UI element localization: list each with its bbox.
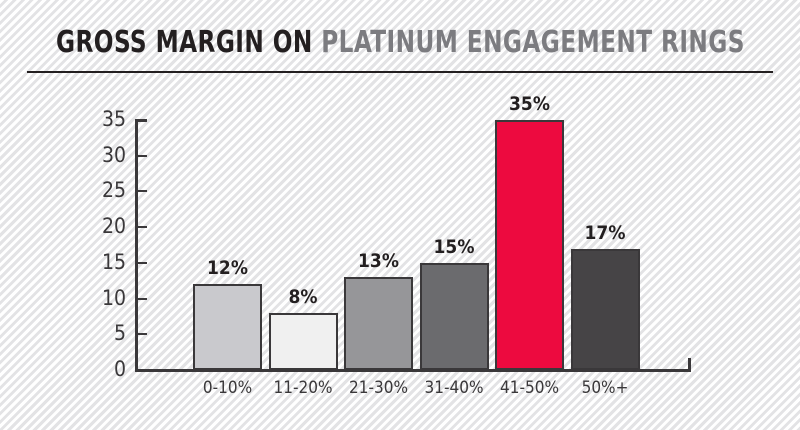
- bar-value-label: 8%: [269, 288, 338, 307]
- bar-value-label: 12%: [193, 259, 262, 278]
- x-axis-category-label: 50%+: [563, 378, 648, 398]
- x-axis-category-label: 41-50%: [487, 378, 572, 398]
- bar[interactable]: [495, 120, 564, 370]
- x-axis-category-label: 21-30%: [336, 378, 421, 398]
- x-axis-category-label: 31-40%: [412, 378, 497, 398]
- bar-series: 12%0-10%8%11-20%13%21-30%15%31-40%35%41-…: [0, 0, 800, 430]
- bar-value-label: 35%: [495, 95, 564, 114]
- bar[interactable]: [344, 277, 413, 370]
- chart-container: GROSS MARGIN ON PLATINUM ENGAGEMENT RING…: [0, 0, 800, 430]
- x-axis-category-label: 11-20%: [261, 378, 346, 398]
- bar-value-label: 13%: [344, 252, 413, 271]
- bar-value-label: 17%: [571, 224, 640, 243]
- bar-value-label: 15%: [420, 238, 489, 257]
- bar[interactable]: [193, 284, 262, 370]
- bar[interactable]: [571, 249, 640, 370]
- bar[interactable]: [269, 313, 338, 370]
- bar[interactable]: [420, 263, 489, 370]
- x-axis-category-label: 0-10%: [185, 378, 270, 398]
